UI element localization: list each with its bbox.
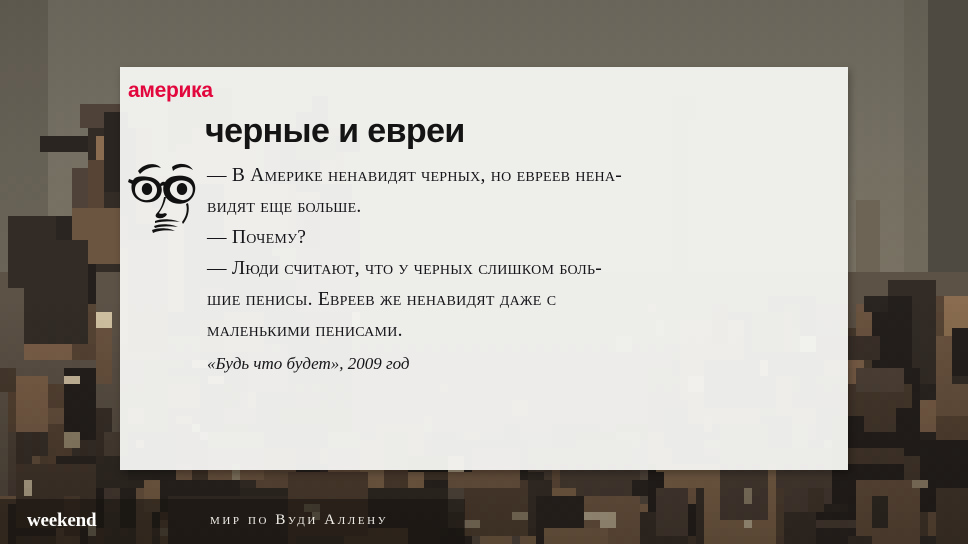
quote-line: — В Америке ненавидят черных, но евреев … — [207, 160, 832, 191]
quote-line: маленькими пенисами. — [207, 315, 832, 346]
footer-tagline: мир по Вуди Аллену — [210, 512, 388, 529]
quote-line: — Почему? — [207, 222, 832, 253]
quote-card: америка черные и евреи — [120, 67, 848, 470]
quote-line: шие пенисы. Евреев же ненавидят даже с — [207, 284, 832, 315]
brand-label-amerika: америка — [128, 79, 213, 103]
quote-attribution: «Будь что будет», 2009 год — [207, 348, 832, 379]
headline-title: черные и евреи — [205, 112, 465, 151]
footer-brand-weekend: weekend — [27, 510, 96, 532]
quote-line: видят еще больше. — [207, 191, 832, 222]
slide-container: америка черные и евреи — [0, 0, 968, 544]
woody-allen-face-icon — [128, 155, 204, 235]
quote-line: — Люди считают, что у черных слишком бол… — [207, 253, 832, 284]
quote-text-block: — В Америке ненавидят черных, но евреев … — [207, 160, 832, 379]
